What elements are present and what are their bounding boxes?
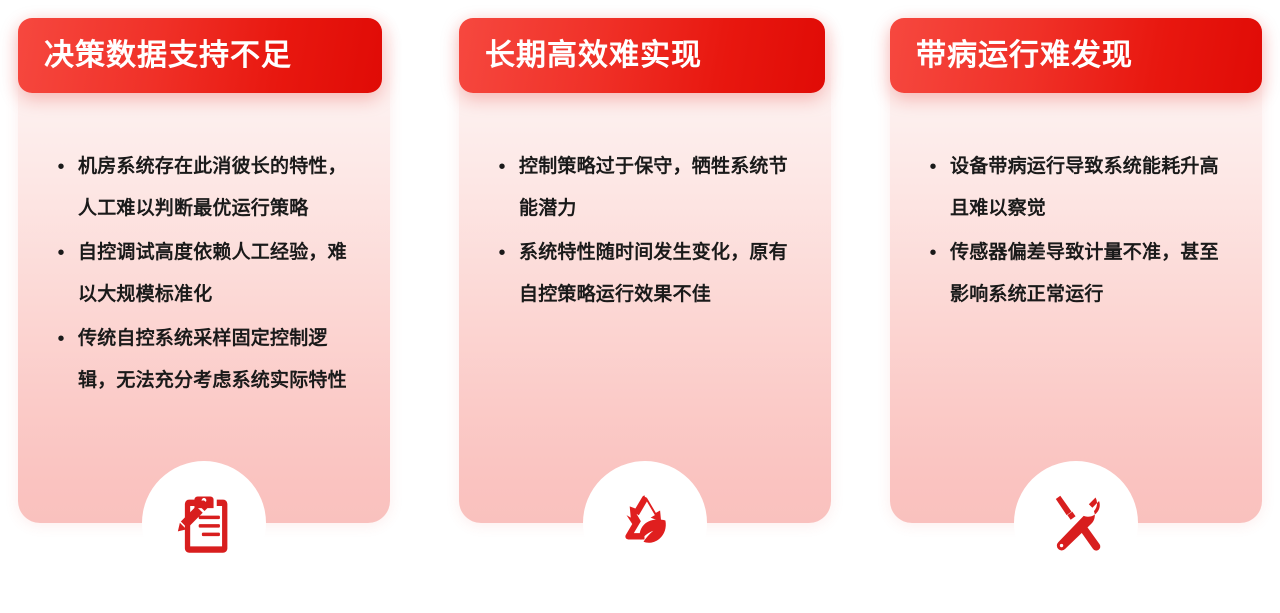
card-header-badge-3[interactable]: 带病运行难发现: [890, 18, 1262, 93]
bullet-text: 传感器偏差导致计量不准，甚至影响系统正常运行: [950, 232, 1234, 316]
icon-medallion-1: [142, 461, 266, 585]
list-item: • 机房系统存在此消彼长的特性，人工难以判断最优运行策略: [44, 146, 362, 230]
list-item: • 控制策略过于保守，牺牲系统节能潜力: [485, 146, 803, 230]
wrench-screwdriver-icon: [1042, 489, 1110, 557]
bullet-list-1: • 机房系统存在此消彼长的特性，人工难以判断最优运行策略 • 自控调试高度依赖人…: [18, 146, 390, 404]
pain-point-card-3[interactable]: 带病运行难发现 • 设备带病运行导致系统能耗升高且难以察觉 • 传感器偏差导致计…: [890, 18, 1262, 523]
icon-medallion-3: [1014, 461, 1138, 585]
card-header-badge-2[interactable]: 长期高效难实现: [459, 18, 825, 93]
slide-canvas: 决策数据支持不足 • 机房系统存在此消彼长的特性，人工难以判断最优运行策略 • …: [0, 0, 1280, 613]
pain-point-card-2[interactable]: 长期高效难实现 • 控制策略过于保守，牺牲系统节能潜力 • 系统特性随时间发生变…: [459, 18, 831, 523]
bullet-marker-icon: •: [485, 146, 519, 188]
list-item: • 自控调试高度依赖人工经验，难以大规模标准化: [44, 232, 362, 316]
bullet-marker-icon: •: [44, 232, 78, 274]
bullet-text: 控制策略过于保守，牺牲系统节能潜力: [519, 146, 803, 230]
bullet-marker-icon: •: [44, 318, 78, 360]
bullet-text: 设备带病运行导致系统能耗升高且难以察觉: [950, 146, 1234, 230]
list-item: • 设备带病运行导致系统能耗升高且难以察觉: [916, 146, 1234, 230]
recycle-leaf-icon: [611, 489, 679, 557]
bullet-list-2: • 控制策略过于保守，牺牲系统节能潜力 • 系统特性随时间发生变化，原有自控策略…: [459, 146, 831, 318]
clipboard-pencil-icon: [170, 489, 238, 557]
bullet-marker-icon: •: [916, 232, 950, 274]
bullet-marker-icon: •: [44, 146, 78, 188]
card-header-badge-1[interactable]: 决策数据支持不足: [18, 18, 382, 93]
bullet-text: 系统特性随时间发生变化，原有自控策略运行效果不佳: [519, 232, 803, 316]
bullet-marker-icon: •: [916, 146, 950, 188]
bullet-marker-icon: •: [485, 232, 519, 274]
bullet-text: 自控调试高度依赖人工经验，难以大规模标准化: [78, 232, 362, 316]
list-item: • 传感器偏差导致计量不准，甚至影响系统正常运行: [916, 232, 1234, 316]
list-item: • 传统自控系统采样固定控制逻辑，无法充分考虑系统实际特性: [44, 318, 362, 402]
bullet-list-3: • 设备带病运行导致系统能耗升高且难以察觉 • 传感器偏差导致计量不准，甚至影响…: [890, 146, 1262, 318]
icon-medallion-2: [583, 461, 707, 585]
card-title-2: 长期高效难实现: [485, 41, 702, 71]
list-item: • 系统特性随时间发生变化，原有自控策略运行效果不佳: [485, 232, 803, 316]
card-title-3: 带病运行难发现: [916, 41, 1133, 71]
bullet-text: 机房系统存在此消彼长的特性，人工难以判断最优运行策略: [78, 146, 362, 230]
pain-point-card-1[interactable]: 决策数据支持不足 • 机房系统存在此消彼长的特性，人工难以判断最优运行策略 • …: [18, 18, 390, 523]
card-title-1: 决策数据支持不足: [44, 41, 292, 71]
bullet-text: 传统自控系统采样固定控制逻辑，无法充分考虑系统实际特性: [78, 318, 362, 402]
